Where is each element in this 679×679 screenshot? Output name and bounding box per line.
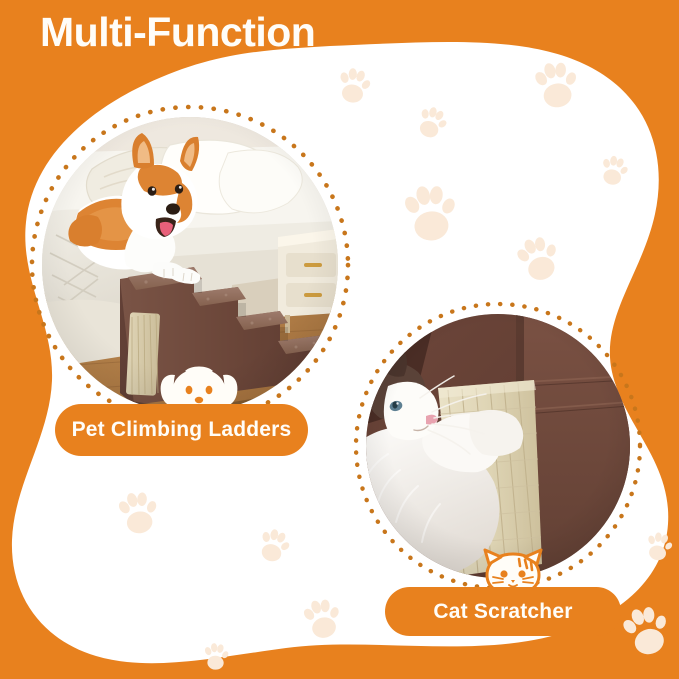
pill-label-text: Cat Scratcher — [433, 600, 572, 624]
label-pill-cat-scratcher[interactable]: Cat Scratcher — [385, 587, 621, 636]
infographic-canvas: Multi-Function — [0, 0, 679, 679]
page-title: Multi-Function — [40, 6, 315, 58]
photo-cat-scratching-sisal — [366, 314, 630, 578]
pill-label-text: Pet Climbing Ladders — [72, 418, 292, 442]
label-pill-pet-climbing-ladders[interactable]: Pet Climbing Ladders — [55, 404, 308, 456]
